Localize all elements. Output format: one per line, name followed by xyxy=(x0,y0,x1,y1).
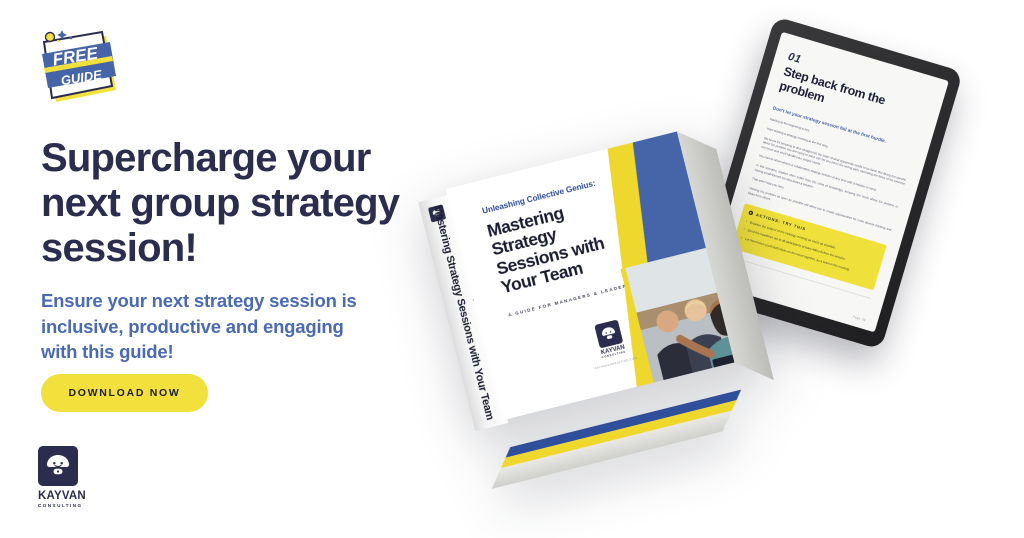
page-label: Page 03 xyxy=(852,315,866,323)
subheading-line-3: with this guide! xyxy=(41,339,391,365)
headline-line-3: session! xyxy=(41,226,441,271)
download-now-button[interactable]: DOWNLOAD NOW xyxy=(41,374,208,412)
brand-tagline: CONSULTING xyxy=(38,503,112,508)
brand-logo: KAYVAN CONSULTING xyxy=(38,446,112,508)
brand-name: KAYVAN xyxy=(38,490,112,502)
left-content-column: FREE GUIDE Supercharge your next group s… xyxy=(0,0,470,538)
page-title: Supercharge your next group strategy ses… xyxy=(41,136,441,270)
promo-banner: FREE GUIDE Supercharge your next group s… xyxy=(0,0,1024,538)
team-collaboration-photo xyxy=(620,241,734,415)
subheading: Ensure your next strategy session is inc… xyxy=(41,288,391,365)
headline-line-1: Supercharge your xyxy=(41,136,441,181)
subheading-line-2: inclusive, productive and engaging xyxy=(41,314,391,340)
kayvan-mushroom-mark xyxy=(38,446,78,486)
free-guide-badge: FREE GUIDE xyxy=(32,24,124,108)
kayvan-mushroom-mark xyxy=(594,319,623,348)
product-artwork: 01 Step back from the problem Don't let … xyxy=(460,0,1024,538)
headline-line-2: next group strategy xyxy=(41,181,441,226)
subheading-line-1: Ensure your next strategy session is xyxy=(41,288,391,314)
